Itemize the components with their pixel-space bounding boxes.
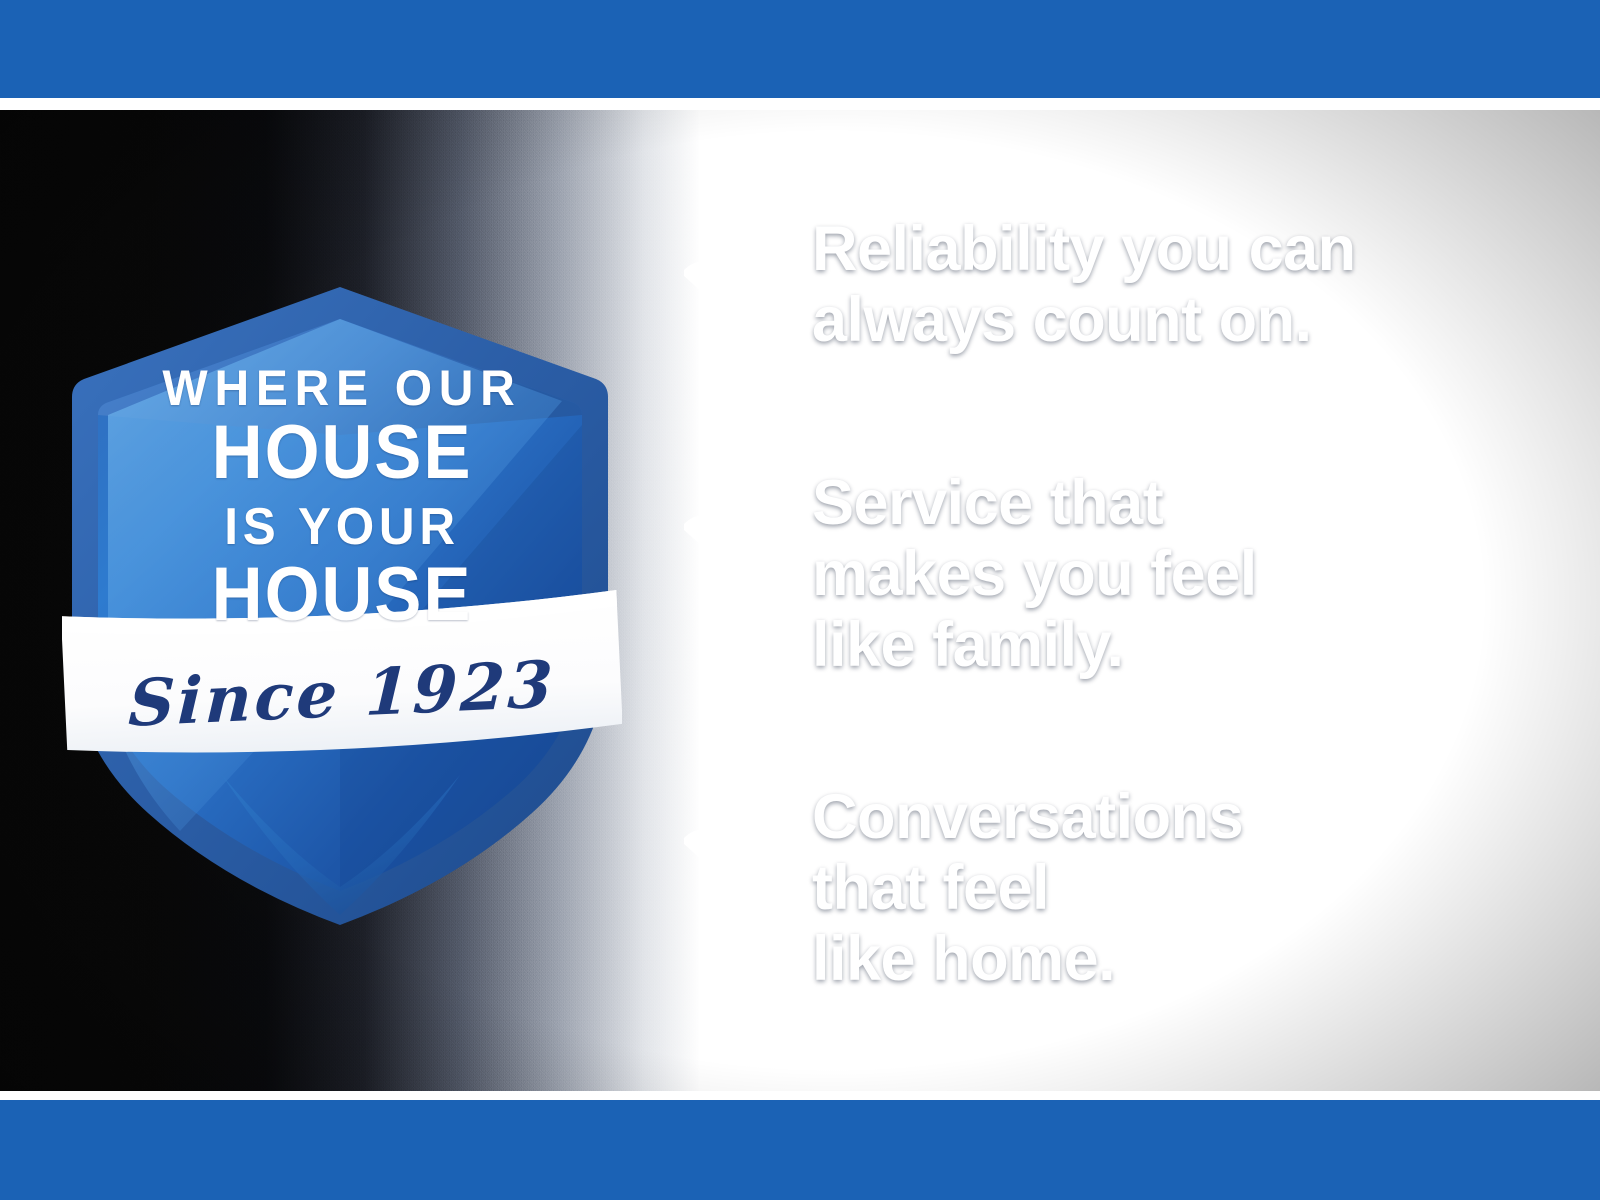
- benefit-item: Service that makes you feel like family.: [672, 468, 1532, 682]
- benefit-item: Reliability you can always count on.: [672, 214, 1532, 356]
- benefit-item: Conversations that feel like home.: [672, 782, 1532, 996]
- check-icon: [672, 468, 812, 584]
- check-icon: [672, 782, 812, 898]
- bottom-brand-bar: [0, 1100, 1600, 1200]
- promo-graphic: WHERE OUR HOUSE IS YOUR HOUSE Since 1923…: [0, 0, 1600, 1200]
- benefits-list: Reliability you can always count on. Ser…: [672, 110, 1532, 1091]
- benefit-text: Service that makes you feel like family.: [812, 468, 1532, 682]
- shield-logo: WHERE OUR HOUSE IS YOUR HOUSE Since 1923: [62, 275, 622, 935]
- check-icon: [672, 214, 812, 330]
- benefit-text: Reliability you can always count on.: [812, 214, 1532, 356]
- benefit-text: Conversations that feel like home.: [812, 782, 1532, 996]
- top-brand-bar: [0, 0, 1600, 98]
- shield-icon: [62, 275, 622, 935]
